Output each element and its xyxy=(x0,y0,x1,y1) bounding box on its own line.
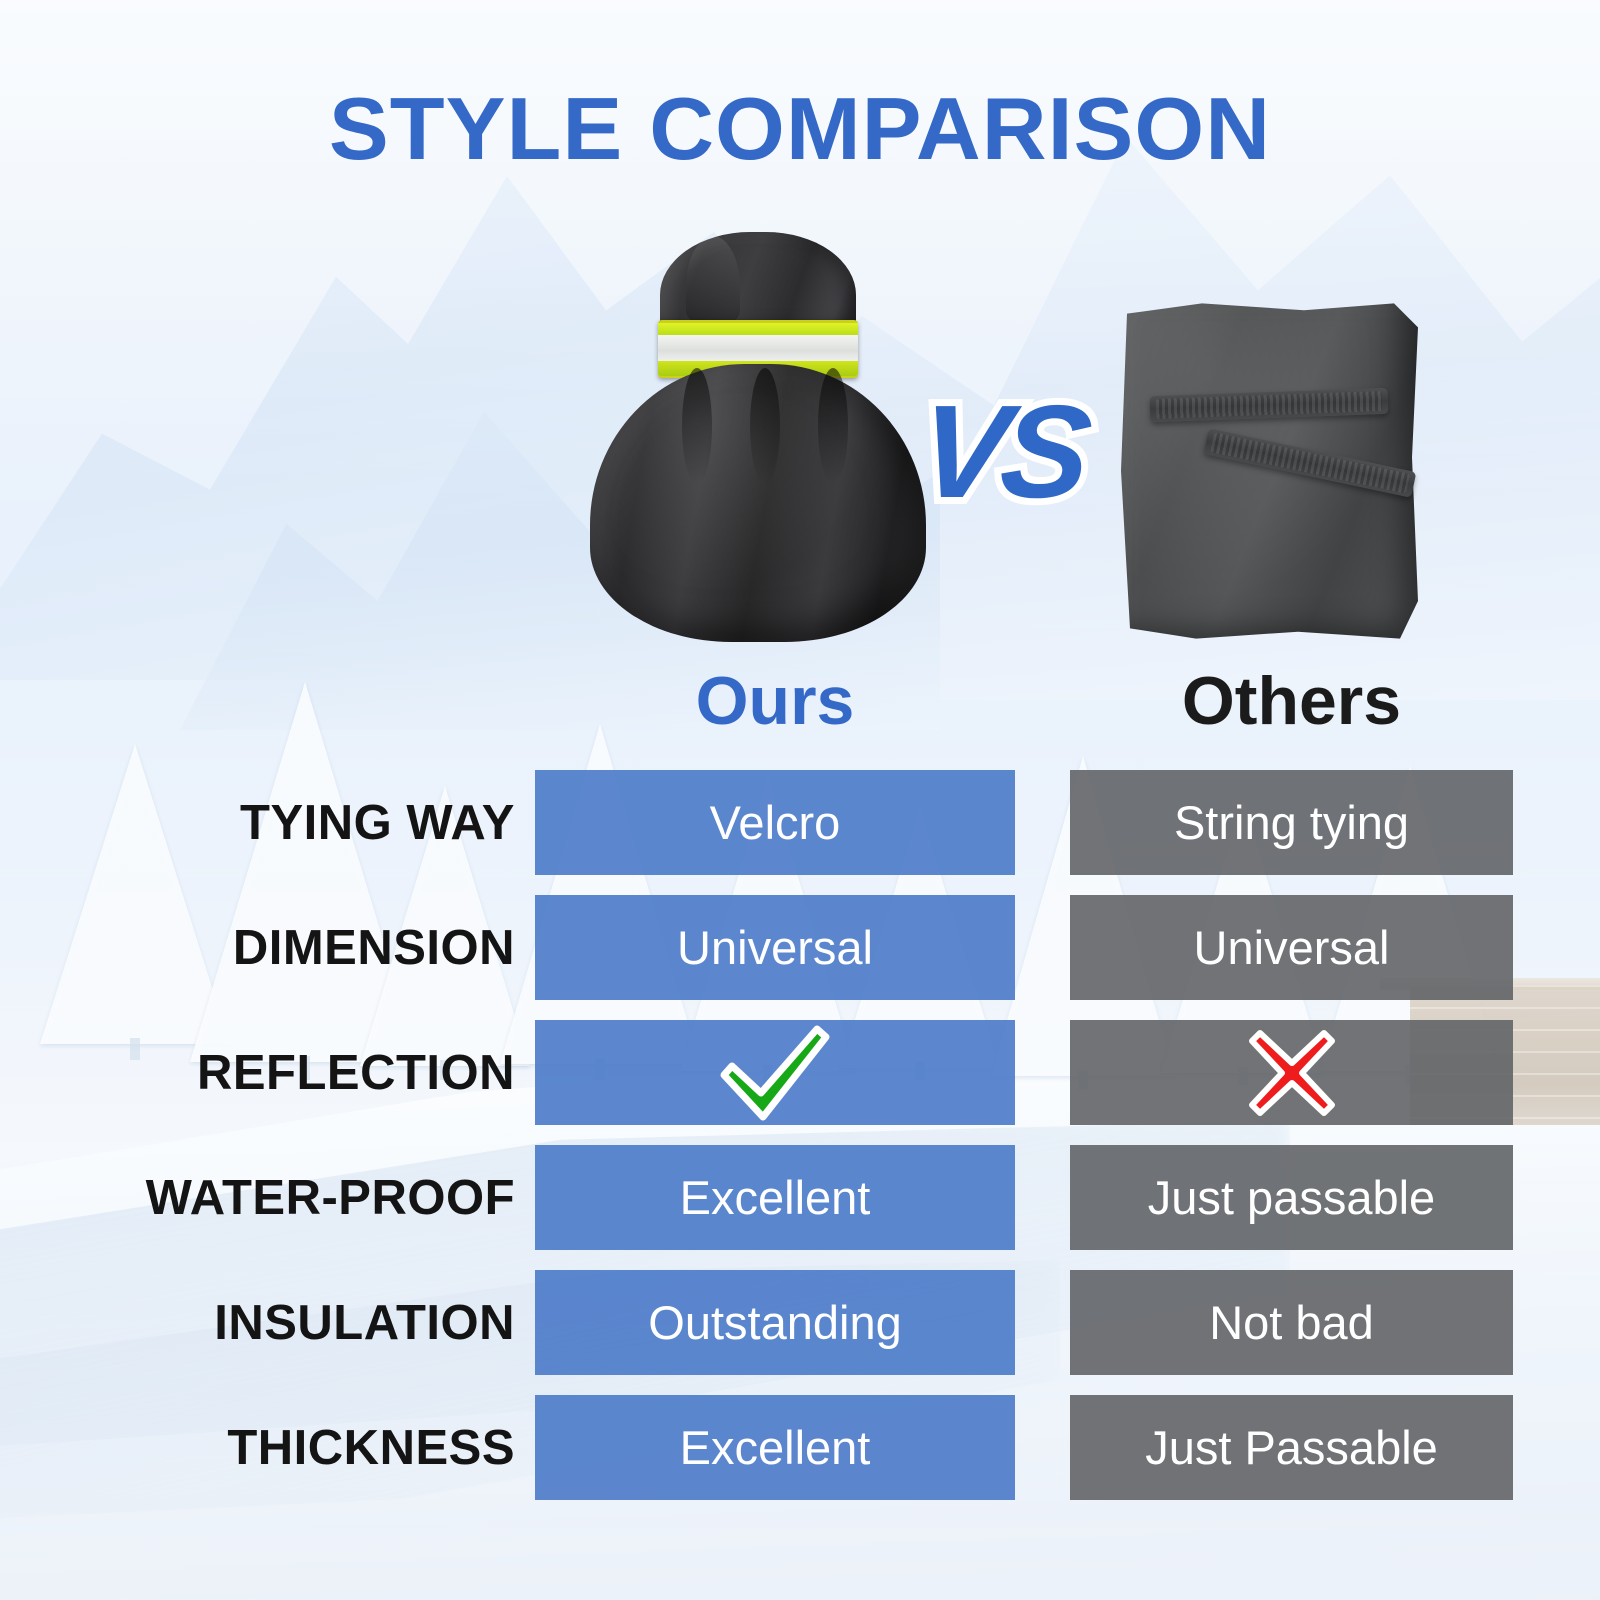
cell-others-insulation: Not bad xyxy=(1070,1270,1513,1375)
page-title: STYLE COMPARISON xyxy=(0,78,1600,180)
table-row: REFLECTION xyxy=(0,1020,1600,1145)
row-label-tying-way: TYING WAY xyxy=(60,770,515,875)
row-label-insulation: INSULATION xyxy=(60,1270,515,1375)
cell-ours-reflection xyxy=(535,1020,1015,1125)
product-image-ours xyxy=(588,232,928,644)
check-icon xyxy=(716,1025,834,1121)
row-label-dimension: DIMENSION xyxy=(60,895,515,1000)
cell-others-reflection xyxy=(1070,1020,1513,1125)
cell-ours-dimension: Universal xyxy=(535,895,1015,1000)
cell-others-tying-way: String tying xyxy=(1070,770,1513,875)
bag-pleat xyxy=(818,368,848,484)
vs-badge: VS xyxy=(913,386,1091,518)
product-image-others xyxy=(1118,300,1418,642)
table-row: WATER-PROOF Excellent Just passable xyxy=(0,1145,1600,1270)
cell-ours-water-proof: Excellent xyxy=(535,1145,1015,1250)
row-label-water-proof: WATER-PROOF xyxy=(60,1145,515,1250)
cross-icon xyxy=(1246,1027,1338,1119)
column-header-ours: Ours xyxy=(535,662,1015,740)
cell-others-water-proof: Just passable xyxy=(1070,1145,1513,1250)
cell-ours-thickness: Excellent xyxy=(535,1395,1015,1500)
table-row: INSULATION Outstanding Not bad xyxy=(0,1270,1600,1395)
cell-ours-tying-way: Velcro xyxy=(535,770,1015,875)
bag-body xyxy=(590,364,926,642)
bag-pleat xyxy=(682,368,712,484)
row-label-thickness: THICKNESS xyxy=(60,1395,515,1500)
table-row: THICKNESS Excellent Just Passable xyxy=(0,1395,1600,1520)
row-label-reflection: REFLECTION xyxy=(60,1020,515,1125)
cell-others-dimension: Universal xyxy=(1070,895,1513,1000)
cell-others-thickness: Just Passable xyxy=(1070,1395,1513,1500)
cell-ours-insulation: Outstanding xyxy=(535,1270,1015,1375)
table-row: DIMENSION Universal Universal xyxy=(0,895,1600,1020)
column-header-others: Others xyxy=(1070,662,1513,740)
table-row: TYING WAY Velcro String tying xyxy=(0,770,1600,895)
comparison-table: TYING WAY Velcro String tying DIMENSION … xyxy=(0,770,1600,1520)
bag-gathered-top xyxy=(660,232,856,334)
bag-pleat xyxy=(750,368,780,484)
